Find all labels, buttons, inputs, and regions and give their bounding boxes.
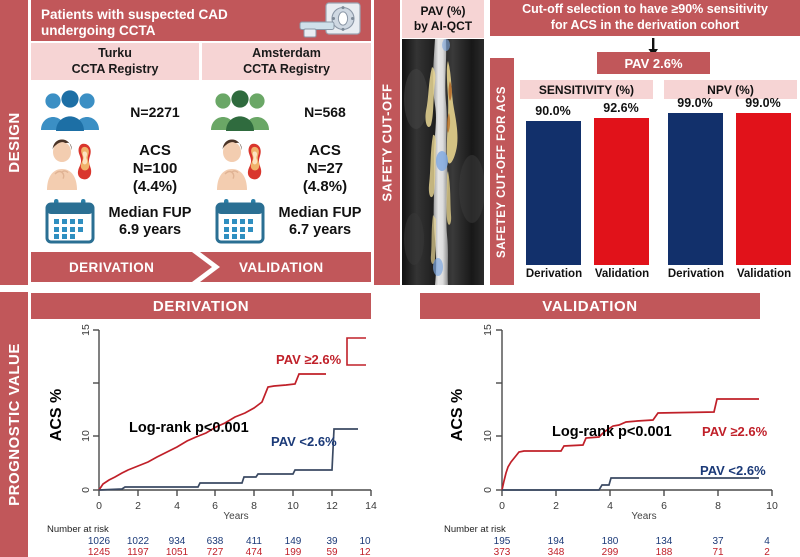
bar-chart-panel: SENSITIVITY (%) 90.0% Derivation 92.6% V…	[516, 80, 800, 285]
svg-text:59: 59	[326, 547, 338, 557]
turku-fup-block: Median FUP 6.9 years	[101, 205, 199, 240]
rail-prognostic-value: PROGNOSTIC VALUE	[0, 292, 28, 557]
amsterdam-n-label: N=568	[281, 104, 369, 121]
svg-text:934: 934	[169, 536, 186, 547]
y-tick-15: 15	[80, 324, 92, 336]
registry-header-amsterdam: Amsterdam CCTA Registry	[202, 43, 371, 80]
sensitivity-validation-label: Validation	[584, 268, 660, 280]
amsterdam-acs-block: ACS N=27 (4.8%)	[281, 142, 369, 196]
turku-acs-line1: ACS	[111, 142, 199, 160]
registry-turku-line2: CCTA Registry	[72, 62, 159, 78]
svg-text:188: 188	[656, 547, 673, 557]
amsterdam-acs-line2: N=27	[281, 160, 369, 178]
rail-safety-cutoff-acs-label: SAFETEY CUT-OFF FOR ACS	[496, 86, 508, 258]
svg-text:6: 6	[661, 500, 667, 512]
svg-text:299: 299	[602, 547, 619, 557]
derivation-validation-flow: DERIVATION VALIDATION	[31, 252, 371, 282]
svg-text:1197: 1197	[127, 547, 149, 557]
y-axis-label: ACS %	[48, 389, 65, 441]
design-panel: Patients with suspected CAD undergoing C…	[31, 0, 371, 285]
x-axis-label: Years	[631, 511, 656, 522]
svg-text:0: 0	[96, 500, 102, 512]
chevron-right-icon	[186, 252, 226, 282]
turku-acs-line2: N=100	[111, 160, 199, 178]
svg-text:195: 195	[494, 536, 511, 547]
svg-text:180: 180	[602, 536, 619, 547]
y-tick-10: 10	[80, 430, 92, 442]
pav-ct-panel: PAV (%) by AI-QCT	[402, 0, 484, 285]
coronary-ct-plaque-image	[402, 39, 484, 285]
km-validation-title: VALIDATION	[542, 298, 637, 315]
svg-text:194: 194	[548, 536, 565, 547]
svg-text:10: 10	[359, 536, 371, 547]
svg-text:474: 474	[246, 547, 263, 557]
npv-validation-label: Validation	[726, 268, 800, 280]
x-axis-label: Years	[223, 511, 248, 522]
ct-scanner-icon	[296, 2, 366, 40]
svg-text:12: 12	[326, 500, 338, 512]
npv-validation-bar	[736, 113, 791, 265]
flow-derivation-label: DERIVATION	[69, 252, 154, 282]
turku-n-label: N=2271	[111, 104, 199, 121]
svg-text:373: 373	[494, 547, 511, 557]
sensitivity-derivation-label: Derivation	[516, 268, 592, 280]
sensitivity-validation-value: 92.6%	[588, 101, 654, 115]
svg-text:727: 727	[207, 547, 224, 557]
pav-caption: PAV (%) by AI-QCT	[402, 0, 484, 38]
pav-caption-line1: PAV (%)	[414, 4, 472, 19]
turku-acs-block: ACS N=100 (4.4%)	[111, 142, 199, 196]
svg-text:6: 6	[212, 500, 218, 512]
km-derivation-chart: 15 10 0 ACS % 0 2 4 6 8 10 12 14 Years L…	[31, 320, 379, 557]
rail-safety-cutoff-label: SAFETY CUT-OFF	[380, 84, 395, 202]
rail-safety-cutoff-acs: SAFETEY CUT-OFF FOR ACS	[490, 58, 514, 285]
km-validation-risk-title: Number at risk	[444, 524, 506, 535]
calendar-icon	[215, 198, 265, 244]
registry-header-turku: Turku CCTA Registry	[31, 43, 199, 80]
sensitivity-derivation-bar	[526, 121, 581, 265]
registry-amsterdam-line1: Amsterdam	[243, 46, 330, 62]
svg-text:8: 8	[715, 500, 721, 512]
svg-text:10: 10	[287, 500, 299, 512]
flow-validation-label: VALIDATION	[239, 252, 324, 282]
npv-validation-value: 99.0%	[730, 96, 796, 110]
svg-text:1026: 1026	[88, 536, 111, 547]
registry-amsterdam-line2: CCTA Registry	[243, 62, 330, 78]
rail-safety-cutoff: SAFETY CUT-OFF	[374, 0, 400, 285]
rail-prognostic-label: PROGNOSTIC VALUE	[6, 343, 23, 506]
npv-derivation-bar	[668, 113, 723, 265]
svg-text:4: 4	[607, 500, 613, 512]
svg-text:71: 71	[712, 547, 724, 557]
km-derivation-risk-title: Number at risk	[47, 524, 109, 535]
y-tick-0: 0	[482, 487, 494, 493]
km-derivation-title-bar: DERIVATION	[31, 293, 371, 319]
svg-text:638: 638	[207, 536, 224, 547]
sensitivity-group-header: SENSITIVITY (%)	[520, 80, 653, 99]
svg-text:411: 411	[246, 536, 262, 547]
chest-pain-artery-icon	[41, 138, 103, 192]
y-tick-10: 10	[482, 430, 494, 442]
svg-text:2: 2	[764, 547, 770, 557]
y-tick-15: 15	[482, 324, 494, 336]
svg-text:199: 199	[285, 547, 302, 557]
sensitivity-validation-bar	[594, 118, 649, 265]
svg-text:1022: 1022	[127, 536, 150, 547]
svg-text:149: 149	[285, 536, 302, 547]
svg-text:14: 14	[365, 500, 377, 512]
km-derivation-title: DERIVATION	[153, 298, 249, 315]
svg-text:1245: 1245	[88, 547, 111, 557]
km-derivation-legend-low: PAV <2.6%	[271, 434, 337, 449]
km-validation-legend-high: PAV ≥2.6%	[702, 424, 768, 439]
svg-text:1051: 1051	[166, 547, 189, 557]
y-axis-label: ACS %	[449, 389, 466, 441]
svg-text:2: 2	[553, 500, 559, 512]
svg-text:134: 134	[656, 536, 673, 547]
pav-cutoff-value-box: PAV 2.6%	[597, 52, 710, 74]
km-derivation-annotation: Log-rank p<0.001	[129, 420, 249, 436]
sensitivity-derivation-value: 90.0%	[522, 104, 584, 118]
cutoff-header-line2: for ACS in the derivation cohort	[522, 18, 768, 34]
km-validation-annotation: Log-rank p<0.001	[552, 424, 672, 440]
km-validation-title-bar: VALIDATION	[420, 293, 760, 319]
svg-text:10: 10	[766, 500, 778, 512]
svg-text:12: 12	[359, 547, 371, 557]
cutoff-header: Cut-off selection to have ≥90% sensitivi…	[490, 0, 800, 36]
svg-text:2: 2	[135, 500, 141, 512]
svg-text:348: 348	[548, 547, 565, 557]
svg-text:8: 8	[251, 500, 257, 512]
turku-acs-line3: (4.4%)	[111, 178, 199, 196]
svg-text:4: 4	[764, 536, 770, 547]
amsterdam-acs-line3: (4.8%)	[281, 178, 369, 196]
turku-fup-line2: 6.9 years	[101, 222, 199, 239]
rail-design-label: DESIGN	[6, 112, 23, 173]
rail-design: DESIGN	[0, 0, 28, 285]
amsterdam-fup-line1: Median FUP	[271, 205, 369, 222]
amsterdam-fup-block: Median FUP 6.7 years	[271, 205, 369, 240]
svg-text:39: 39	[326, 536, 338, 547]
svg-text:0: 0	[499, 500, 505, 512]
km-validation-legend-low: PAV <2.6%	[700, 463, 766, 478]
svg-text:37: 37	[712, 536, 724, 547]
chest-pain-artery-icon	[211, 138, 273, 192]
turku-fup-line1: Median FUP	[101, 205, 199, 222]
npv-derivation-value: 99.0%	[664, 96, 726, 110]
svg-text:4: 4	[174, 500, 180, 512]
npv-derivation-label: Derivation	[658, 268, 734, 280]
cutoff-header-line1: Cut-off selection to have ≥90% sensitivi…	[522, 2, 768, 18]
amsterdam-acs-line1: ACS	[281, 142, 369, 160]
people-group-icon	[209, 90, 271, 132]
y-tick-0: 0	[80, 487, 92, 493]
pav-caption-line2: by AI-QCT	[414, 19, 472, 34]
km-validation-chart: 15 10 0 ACS % 0 2 4 6 8 10 Years Log-ran…	[412, 320, 792, 557]
registry-turku-line1: Turku	[72, 46, 159, 62]
design-header-text: Patients with suspected CAD undergoing C…	[31, 0, 293, 47]
amsterdam-fup-line2: 6.7 years	[271, 222, 369, 239]
calendar-icon	[45, 198, 95, 244]
km-derivation-legend-high: PAV ≥2.6%	[276, 352, 342, 367]
people-group-icon	[39, 90, 101, 132]
design-header: Patients with suspected CAD undergoing C…	[31, 0, 371, 41]
